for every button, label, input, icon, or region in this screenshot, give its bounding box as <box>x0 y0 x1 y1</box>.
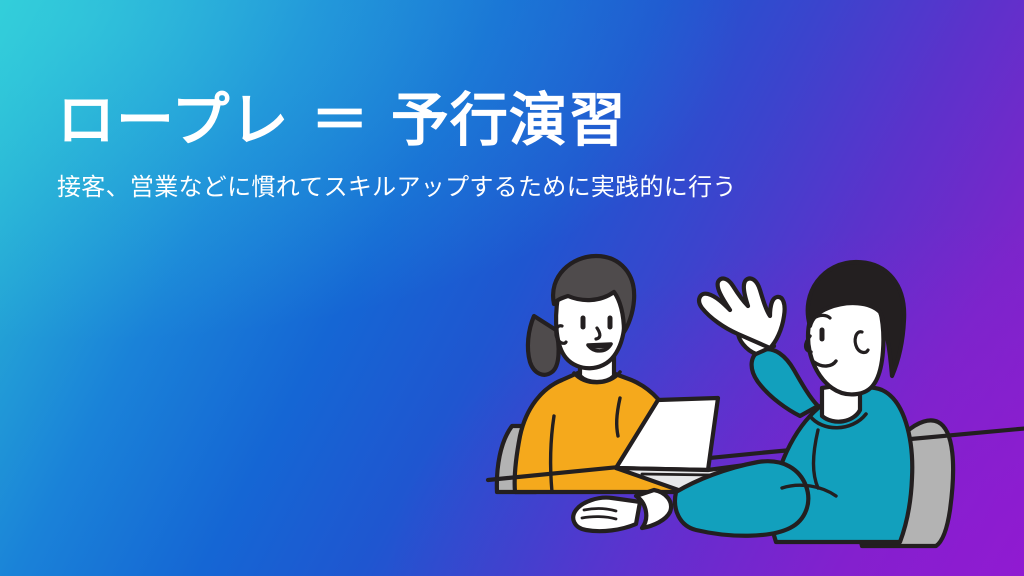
slide-canvas: ロープレ ＝ 予行演習 接客、営業などに慣れてスキルアップするために実践的に行う <box>0 0 1024 576</box>
text-block: ロープレ ＝ 予行演習 接客、営業などに慣れてスキルアップするために実践的に行う <box>57 88 737 203</box>
page-subtitle: 接客、営業などに慣れてスキルアップするために実践的に行う <box>57 153 737 203</box>
illustration-svg <box>470 230 1024 576</box>
roleplay-meeting-illustration <box>470 230 1024 576</box>
page-title: ロープレ ＝ 予行演習 <box>57 88 737 153</box>
